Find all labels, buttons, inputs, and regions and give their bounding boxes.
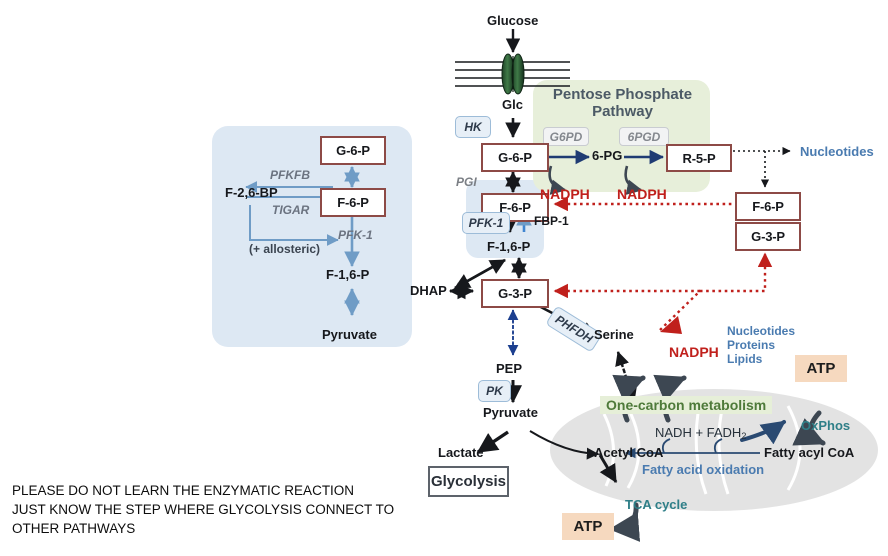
diagram-canvas: Glucose Glc Pentose Phosphate Pathway G6… bbox=[0, 0, 888, 556]
metabolite-g6p-main: G-6-P bbox=[481, 143, 549, 172]
nadh-fadh-text: NADH + FADH bbox=[655, 425, 741, 440]
tca-cycle-label: TCA cycle bbox=[625, 497, 687, 512]
atp-oxphos: ATP bbox=[795, 355, 847, 382]
enzyme-hk[interactable]: HK bbox=[455, 116, 491, 138]
metabolite-f6p-gluconeo: F-6-P bbox=[735, 192, 801, 221]
reg-metabolite-g6p: G-6-P bbox=[320, 136, 386, 165]
ppp-output-nucleotides: Nucleotides bbox=[800, 144, 874, 159]
reducing-equivalents-label: NADH + FADH2 bbox=[655, 425, 746, 441]
metabolite-lactate: Lactate bbox=[438, 446, 484, 459]
caption-line-2: JUST KNOW THE STEP WHERE GLYCOLYSIS CONN… bbox=[12, 500, 394, 520]
metabolite-g3p-main: G-3-P bbox=[481, 279, 549, 308]
reg-metabolite-f16p: F-1,6-P bbox=[326, 268, 369, 281]
nadph-label-2: NADPH bbox=[617, 186, 667, 202]
reg-enzyme-pfkfb: PFKFB bbox=[270, 168, 310, 182]
glucose-transporter-icon bbox=[502, 54, 524, 94]
reg-metabolite-pyruvate: Pyruvate bbox=[322, 328, 377, 341]
ppp-title-line2: Pathway bbox=[592, 103, 653, 120]
enzyme-6pgd[interactable]: 6PGD bbox=[619, 127, 669, 146]
metabolite-pep: PEP bbox=[496, 362, 522, 375]
glucose-label: Glucose bbox=[487, 14, 538, 27]
fatty-acid-oxidation-label: Fatty acid oxidation bbox=[642, 462, 764, 477]
fadh2-subscript: 2 bbox=[741, 431, 746, 441]
enzyme-g6pd[interactable]: G6PD bbox=[543, 127, 589, 146]
enzyme-pfk1-main[interactable]: PFK-1 bbox=[462, 212, 510, 234]
metabolite-f16p-main: F-1,6-P bbox=[487, 240, 530, 253]
enzyme-fbp1: FBP-1 bbox=[534, 215, 569, 227]
output-lipids: Lipids bbox=[727, 352, 762, 366]
reg-metabolite-f6p: F-6-P bbox=[320, 188, 386, 217]
metabolite-pyruvate-main: Pyruvate bbox=[483, 406, 538, 419]
metabolite-g3p-gluconeo: G-3-P bbox=[735, 222, 801, 251]
ppp-title: Pentose Phosphate Pathway bbox=[545, 86, 700, 121]
oxphos-label: OxPhos bbox=[801, 418, 850, 433]
caption-line-3: OTHER PATHWAYS bbox=[12, 519, 135, 539]
enzyme-pk[interactable]: PK bbox=[478, 380, 511, 402]
metabolite-r5p: R-5-P bbox=[666, 144, 732, 172]
caption-line-1: PLEASE DO NOT LEARN THE ENZYMATIC REACTI… bbox=[12, 481, 354, 501]
glycolysis-legend-box: Glycolysis bbox=[428, 466, 509, 497]
metabolite-acetyl-coa: Acetyl CoA bbox=[594, 446, 663, 459]
serine-red-arrowhead bbox=[660, 316, 682, 334]
nadph-label-1: NADPH bbox=[540, 186, 590, 202]
atp-tca: ATP bbox=[562, 513, 614, 540]
glc-label: Glc bbox=[502, 98, 523, 111]
metabolite-dhap: DHAP bbox=[410, 284, 447, 297]
reg-metabolite-f26bp: F-2,6-BP bbox=[225, 186, 278, 199]
output-proteins: Proteins bbox=[727, 338, 775, 352]
enzyme-pgi: PGI bbox=[456, 175, 477, 189]
one-carbon-label: One-carbon metabolism bbox=[600, 396, 772, 414]
metabolite-6pg: 6-PG bbox=[592, 149, 622, 162]
metabolite-fatty-acyl-coa: Fatty acyl CoA bbox=[764, 446, 854, 459]
reg-enzyme-tigar: TIGAR bbox=[272, 203, 309, 217]
output-nucleotides: Nucleotides bbox=[727, 324, 795, 338]
nadph-label-3: NADPH bbox=[669, 344, 719, 360]
allosteric-note: (+ allosteric) bbox=[249, 242, 320, 256]
ppp-title-line1: Pentose Phosphate bbox=[553, 86, 692, 103]
metabolite-serine: Serine bbox=[594, 328, 634, 341]
reg-enzyme-pfk1: PFK-1 bbox=[338, 228, 373, 242]
